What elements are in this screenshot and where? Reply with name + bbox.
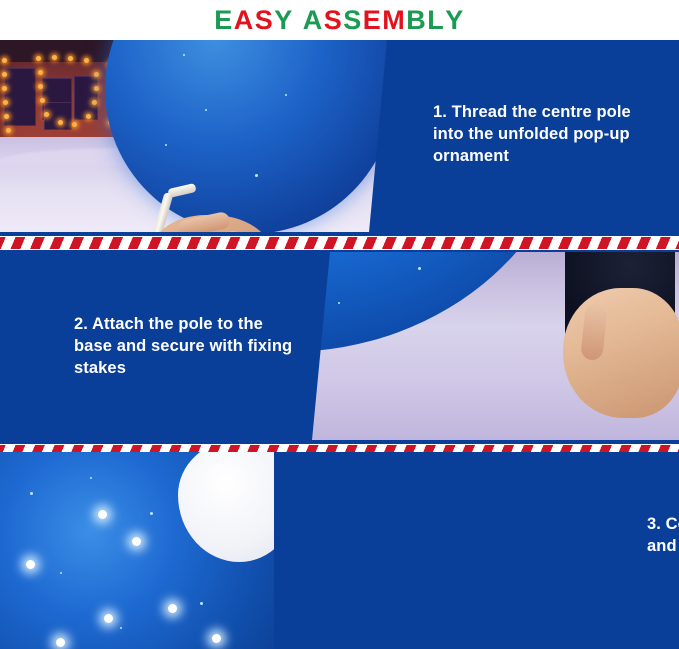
page-title: EASY ASSEMBLY	[214, 7, 465, 34]
step-2-text: 2. Attach the pole to the base and secur…	[74, 314, 300, 380]
led-light-2	[132, 537, 141, 546]
step-1-text: 1. Thread the centre pole into the unfol…	[433, 102, 659, 168]
step-1-text-panel: 1. Thread the centre pole into the unfol…	[369, 40, 679, 232]
title-letter-2: S	[255, 7, 275, 34]
led-light-3	[26, 560, 35, 569]
led-light-7	[212, 634, 221, 643]
title-letter-12: Y	[445, 7, 465, 34]
step-row-3: 3. Connect the power supply and select t…	[0, 452, 679, 649]
led-light-4	[168, 604, 177, 613]
title-letter-10: B	[406, 7, 427, 34]
step-3-photo	[0, 452, 300, 649]
hand-holding-stakes	[563, 288, 679, 418]
title-letter-11: L	[427, 7, 445, 34]
step-1-photo	[0, 40, 395, 232]
title-letter-5: A	[303, 7, 324, 34]
title-letter-6: S	[324, 7, 344, 34]
step-row-2: 2. Attach the pole to the base and secur…	[0, 252, 679, 440]
title-letter-9: M	[382, 7, 406, 34]
step-3-text-panel: 3. Connect the power supply and select t…	[279, 452, 679, 649]
step-row-1: 1. Thread the centre pole into the unfol…	[0, 40, 679, 232]
title-letter-8: E	[363, 7, 383, 34]
stripe-band	[0, 236, 679, 250]
title-letter-3: Y	[274, 7, 294, 34]
led-light-1	[98, 510, 107, 519]
led-light-5	[104, 614, 113, 623]
title-letter-0: E	[214, 7, 234, 34]
candy-cane-divider-1	[0, 232, 679, 252]
window-right	[74, 76, 98, 120]
step-2-text-panel: 2. Attach the pole to the base and secur…	[0, 252, 330, 440]
easy-assembly-infographic: EASY ASSEMBLY	[0, 0, 679, 649]
title-letter-7: S	[343, 7, 363, 34]
title-letter-1: A	[234, 7, 255, 34]
header-bar: EASY ASSEMBLY	[0, 0, 679, 40]
title-letter-4	[294, 7, 303, 34]
step-3-text: 3. Connect the power supply and select t…	[647, 514, 679, 558]
led-light-6	[56, 638, 65, 647]
